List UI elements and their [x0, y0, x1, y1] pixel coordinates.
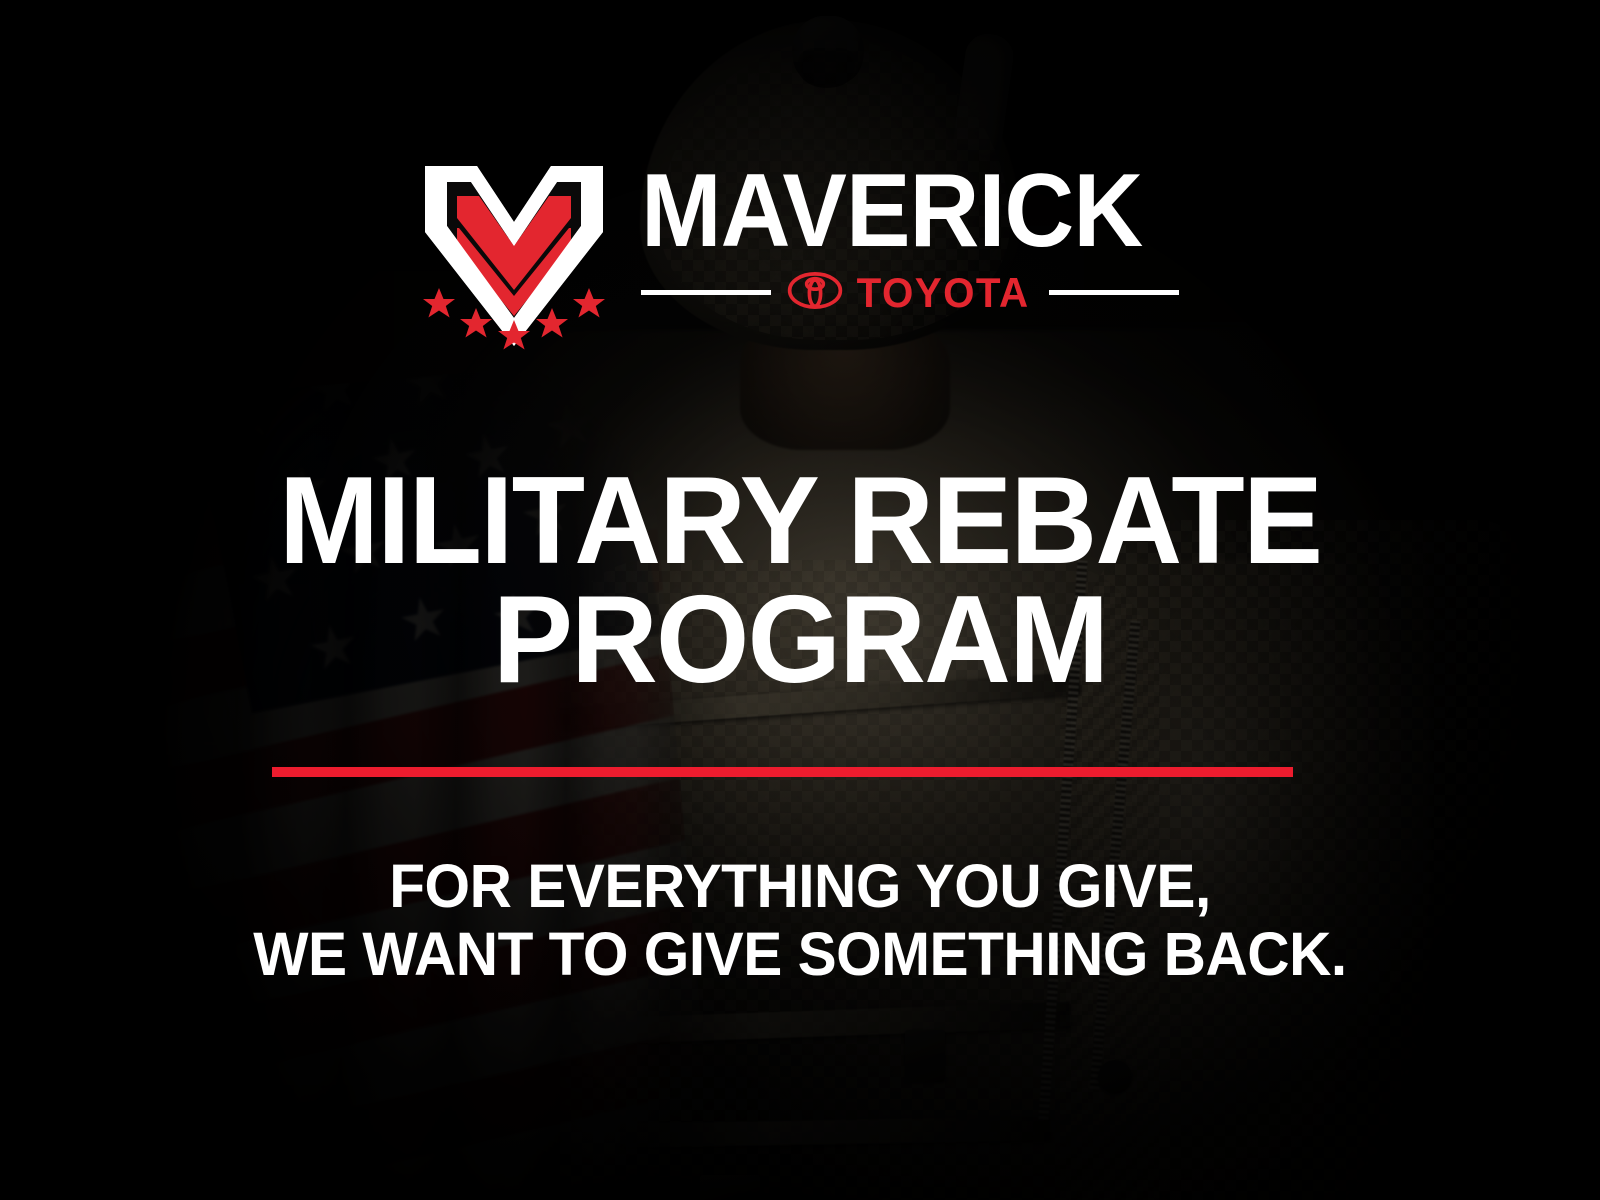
page-title: MILITARY REBATE PROGRAM	[24, 462, 1576, 700]
headline-line-1: MILITARY REBATE	[279, 452, 1321, 590]
maverick-wordmark: MAVERICK	[641, 164, 1142, 260]
toyota-sub-lockup: TOYOTA	[641, 272, 1180, 314]
maverick-chevron-emblem-icon	[421, 160, 607, 350]
toyota-wordmark: TOYOTA	[857, 272, 1030, 314]
red-divider-rule	[272, 767, 1293, 777]
brand-text-block: MAVERICK	[641, 160, 1180, 314]
military-rebate-ad-banner: MAVERICK	[0, 0, 1600, 1200]
tagline: FOR EVERYTHING YOU GIVE, WE WANT TO GIVE…	[32, 852, 1568, 989]
tagline-line-1: FOR EVERYTHING YOU GIVE,	[389, 852, 1210, 920]
ad-content: MAVERICK	[0, 0, 1600, 1200]
headline-line-2: PROGRAM	[24, 581, 1576, 700]
toyota-ellipse-emblem-icon	[787, 271, 843, 315]
lockup-rule-right	[1049, 290, 1179, 295]
tagline-line-2: WE WANT TO GIVE SOMETHING BACK.	[32, 920, 1568, 988]
brand-lockup: MAVERICK	[0, 160, 1600, 350]
lockup-rule-left	[641, 290, 771, 295]
toyota-brand-mark: TOYOTA	[787, 271, 1033, 315]
